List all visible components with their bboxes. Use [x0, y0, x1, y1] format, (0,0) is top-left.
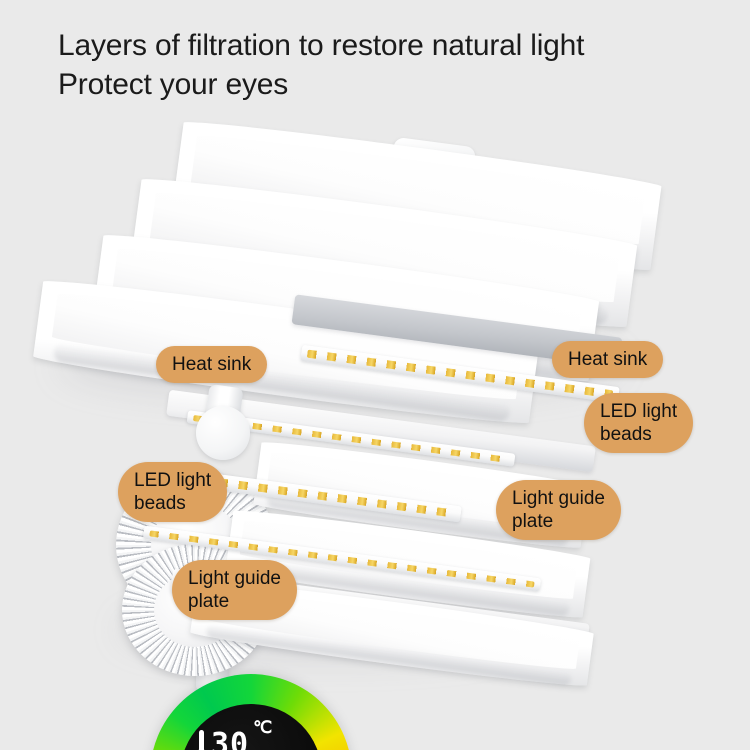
callout-heat-sink-right: Heat sink — [552, 341, 663, 378]
lamp-base: 30 ℃ — [150, 674, 352, 750]
callout-led-light-beads-left: LED light beads — [118, 462, 227, 522]
thermometer-icon — [196, 730, 207, 750]
temperature-value: 30 — [211, 730, 249, 750]
product-infographic: Layers of filtration to restore natural … — [0, 0, 750, 750]
callout-light-guide-plate-right: Light guide plate — [496, 480, 621, 540]
temperature-unit: ℃ — [253, 720, 272, 737]
callout-led-light-beads-right: LED light beads — [584, 393, 693, 453]
thermometer-stem — [199, 730, 204, 750]
lamp-arm-joint — [196, 406, 250, 460]
callout-light-guide-plate-left: Light guide plate — [172, 560, 297, 620]
callout-heat-sink-left: Heat sink — [156, 346, 267, 383]
temperature-display: 30 ℃ — [196, 716, 308, 750]
